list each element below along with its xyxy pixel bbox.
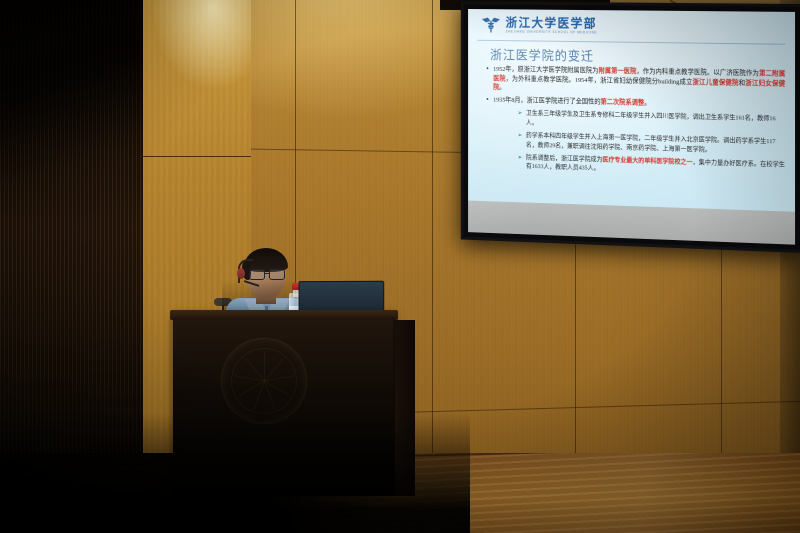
screen-surface: 浙江大学医学部 ZHEJIANG UNIVERSITY SCHOOL OF ME… bbox=[468, 9, 795, 245]
logo-chinese-name: 浙江大学医学部 bbox=[506, 17, 598, 30]
wall-seam-horizontal bbox=[143, 156, 251, 157]
lens-right bbox=[269, 269, 285, 280]
glasses-bridge bbox=[264, 273, 270, 274]
projection-screen: 浙江大学医学部 ZHEJIANG UNIVERSITY SCHOOL OF ME… bbox=[461, 1, 800, 253]
sub-bullet-text: 药学系本科四年级学生并入上海第一医学院，二年级学生并入北京医学院。调出药学系学生… bbox=[526, 131, 785, 156]
slide-logo: 浙江大学医学部 ZHEJIANG UNIVERSITY SCHOOL OF ME… bbox=[481, 16, 597, 36]
slide-title: 浙江医学院的变迁 bbox=[490, 45, 594, 65]
plain-text: 和 bbox=[739, 79, 746, 86]
plain-text: 1952年，原浙江大学医学院附属医院为 bbox=[493, 66, 598, 75]
slide-header-divider bbox=[477, 40, 785, 45]
highlight-text: 医疗专业最大的单科医学院校之一 bbox=[602, 156, 692, 165]
headset-earpiece-icon bbox=[237, 268, 245, 279]
bullet-text: 1955年8月，浙江医学院进行了全国性的第二次院系调整。 bbox=[493, 95, 650, 108]
sub-bullet-marker: ➢ bbox=[518, 109, 523, 127]
eyeglasses-icon bbox=[249, 269, 285, 278]
plain-text: ，作为内科重点教学医院。以广济医院作为 bbox=[636, 68, 759, 77]
highlight-text: 第二次院系调整 bbox=[601, 99, 645, 107]
lectern bbox=[173, 316, 395, 496]
bullet-marker: • bbox=[486, 65, 488, 93]
sub-bullet-host: ➢卫生系三年级学生及卫生系专修科二年级学生并入四川医学院，调出卫生系学生161名… bbox=[486, 108, 785, 179]
highlight-text: 浙江儿童保健院 bbox=[693, 79, 739, 87]
sub-bullet-text: 卫生系三年级学生及卫生系专修科二年级学生并入四川医学院，调出卫生系学生161名，… bbox=[526, 109, 785, 134]
lectern-side-panel bbox=[393, 320, 415, 496]
lectern-shading bbox=[173, 316, 395, 496]
sub-bullet-text: 院系调整后，浙江医学院成为医疗专业最大的单科医学院校之一，集中力量办好医疗系。在… bbox=[526, 153, 785, 179]
plain-text: 卫生系三年级学生及卫生系专修科二年级学生并入四川医学院，调出卫生系学生161名，… bbox=[526, 110, 776, 126]
sub-bullet-marker: ➢ bbox=[518, 153, 523, 171]
wall-seam-vertical bbox=[432, 0, 433, 470]
wall-shadow-upper bbox=[0, 0, 146, 215]
bullet-marker: • bbox=[486, 95, 488, 104]
left-acoustic-wall-panel bbox=[0, 0, 146, 470]
sub-bullet-marker: ➢ bbox=[518, 131, 523, 149]
sub-bullet-item: ➢药学系本科四年级学生并入上海第一医学院，二年级学生并入北京医学院。调出药学系学… bbox=[518, 131, 786, 157]
wall-shadow-lower bbox=[0, 230, 146, 470]
bullet-text: 1952年，原浙江大学医学院附属医院为附属第一医院，作为内科重点教学医院。以广济… bbox=[493, 65, 785, 98]
sub-bullet-item: ➢院系调整后，浙江医学院成为医疗专业最大的单科医学院校之一，集中力量办好医疗系。… bbox=[518, 153, 786, 179]
plain-text: 药学系本科四年级学生并入上海第一医学院，二年级学生并入北京医学院。调出药学系学生… bbox=[526, 132, 775, 153]
plain-text: 。 bbox=[644, 99, 650, 106]
slide-bullet-list: • 1952年，原浙江大学医学院附属医院为附属第一医院，作为内科重点教学医院。以… bbox=[486, 65, 785, 179]
lecture-hall-photo: 浙江大学医学部 ZHEJIANG UNIVERSITY SCHOOL OF ME… bbox=[0, 0, 800, 533]
presentation-slide: 浙江大学医学部 ZHEJIANG UNIVERSITY SCHOOL OF ME… bbox=[468, 9, 795, 217]
bullet-item: • 1952年，原浙江大学医学院附属医院为附属第一医院，作为内科重点教学医院。以… bbox=[486, 65, 785, 98]
logo-english-name: ZHEJIANG UNIVERSITY SCHOOL OF MEDICINE bbox=[506, 31, 598, 35]
plain-text: 。 bbox=[499, 84, 505, 91]
plain-text: 1955年8月，浙江医学院进行了全国性的 bbox=[493, 96, 600, 105]
plain-text: ，为外科重点教学医院。1954年，浙江省妇幼保健院分building成立 bbox=[506, 75, 693, 85]
zju-medicine-wing-emblem-icon bbox=[481, 16, 501, 34]
highlight-text: 附属第一医院 bbox=[599, 68, 637, 75]
sub-bullet-item: ➢卫生系三年级学生及卫生系专修科二年级学生并入四川医学院，调出卫生系学生161名… bbox=[518, 109, 786, 134]
plain-text: 院系调整后，浙江医学院成为 bbox=[526, 154, 602, 163]
